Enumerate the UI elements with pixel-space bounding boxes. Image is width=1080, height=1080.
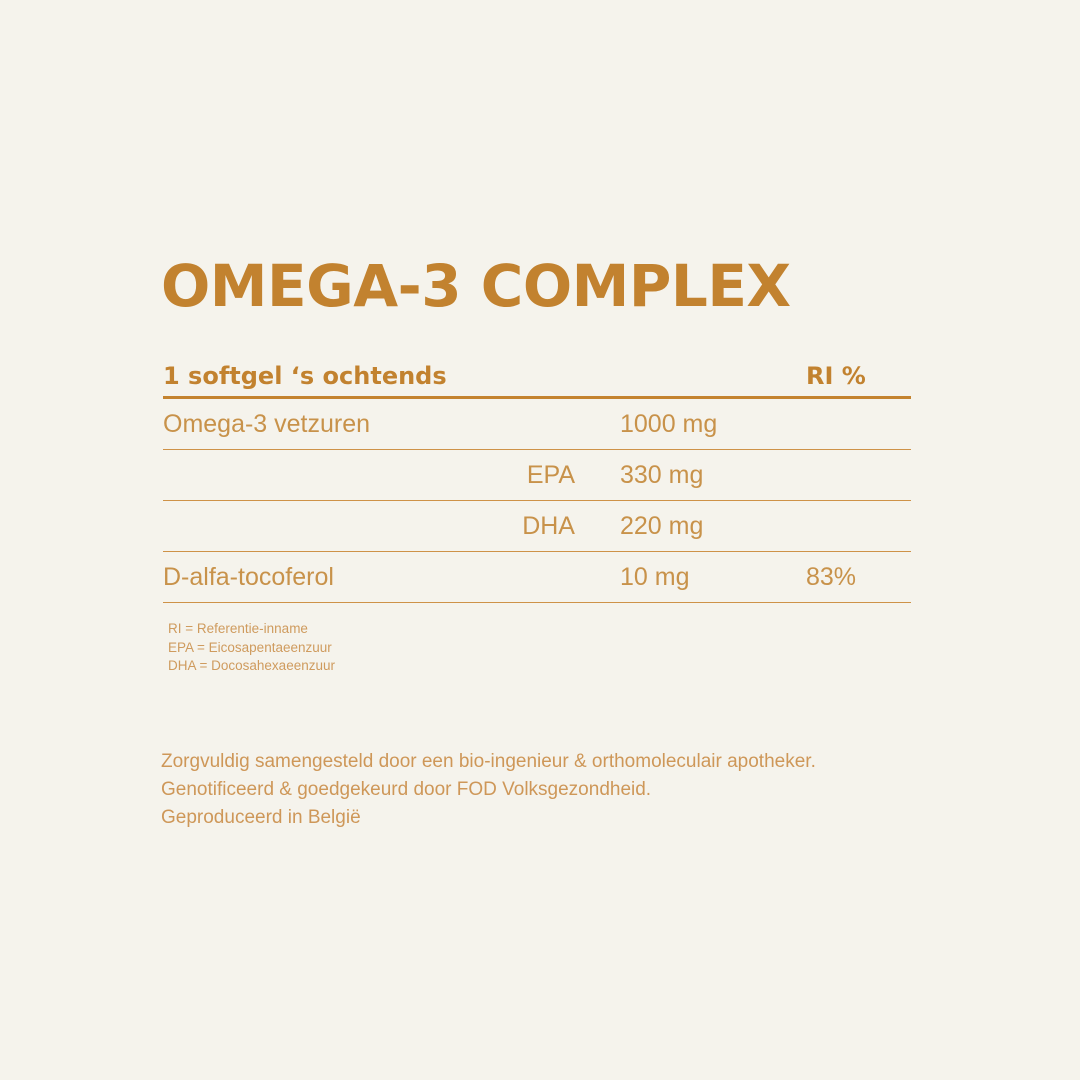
footnote-line: DHA = Docosahexaeenzuur	[168, 657, 335, 676]
disclaimer-text: Zorgvuldig samengesteld door een bio-ing…	[161, 748, 816, 832]
table-row: EPA 330 mg	[163, 450, 911, 501]
table-row: DHA 220 mg	[163, 501, 911, 552]
disclaimer-line: Genotificeerd & goedgekeurd door FOD Vol…	[161, 776, 816, 804]
nutrient-sub: EPA	[503, 461, 575, 490]
nutrient-value: 1000 mg	[575, 410, 805, 439]
disclaimer-line: Geproduceerd in België	[161, 804, 816, 832]
column-header-ri: RI %	[805, 362, 911, 390]
supplement-label-panel: OMEGA-3 COMPLEX 1 softgel ‘s ochtends RI…	[0, 0, 1080, 1080]
table-row: D-alfa-tocoferol 10 mg 83%	[163, 552, 911, 603]
table-row: Omega-3 vetzuren 1000 mg	[163, 399, 911, 450]
page-title: OMEGA-3 COMPLEX	[161, 257, 791, 315]
abbreviation-footnotes: RI = Referentie-inname EPA = Eicosapenta…	[168, 620, 335, 676]
nutrient-value: 10 mg	[575, 563, 805, 592]
nutrient-name: D-alfa-tocoferol	[163, 563, 503, 592]
nutrient-sub: DHA	[503, 512, 575, 541]
nutrition-facts-table: 1 softgel ‘s ochtends RI % Omega-3 vetzu…	[163, 355, 911, 603]
nutrient-value: 330 mg	[575, 461, 805, 490]
column-header-serving: 1 softgel ‘s ochtends	[163, 362, 805, 390]
nutrient-name: Omega-3 vetzuren	[163, 410, 503, 439]
nutrient-ri: 83%	[805, 563, 911, 592]
footnote-line: EPA = Eicosapentaeenzuur	[168, 639, 335, 658]
table-header-row: 1 softgel ‘s ochtends RI %	[163, 355, 911, 399]
disclaimer-line: Zorgvuldig samengesteld door een bio-ing…	[161, 748, 816, 776]
nutrient-value: 220 mg	[575, 512, 805, 541]
footnote-line: RI = Referentie-inname	[168, 620, 335, 639]
